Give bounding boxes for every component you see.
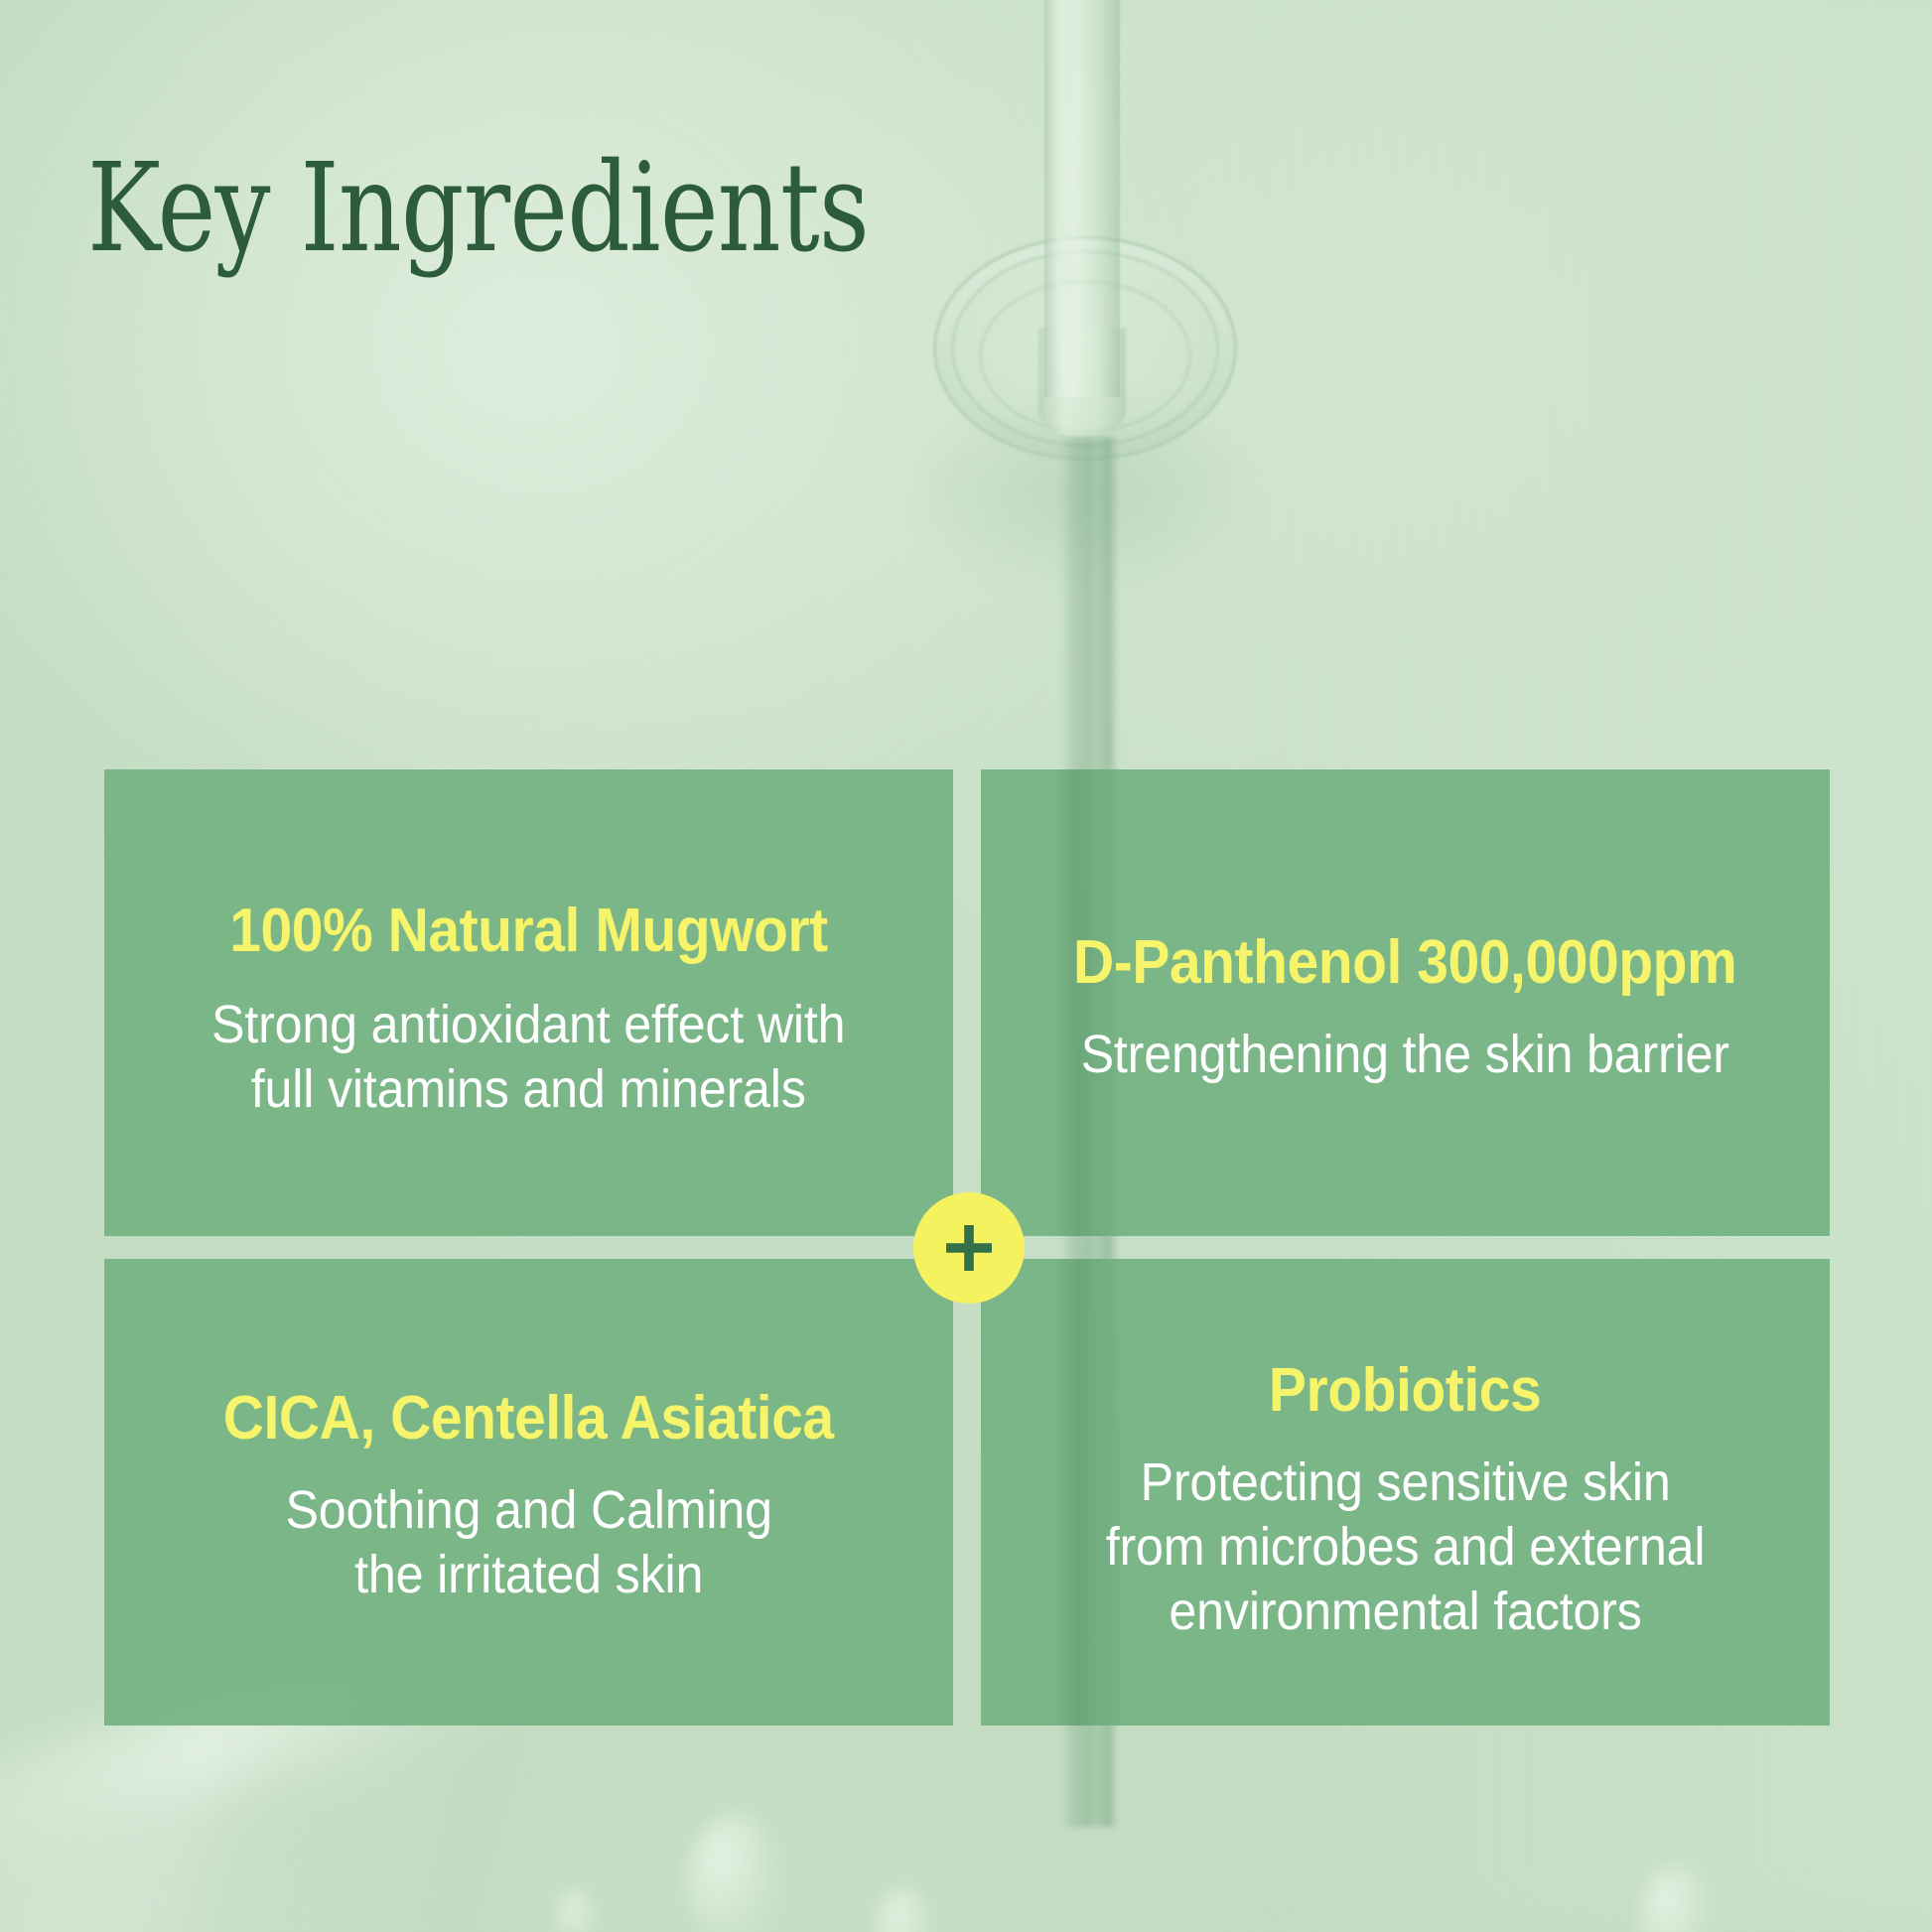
ingredient-description: Strong antioxidant effect with full vita… [211,993,845,1122]
ingredient-title: D-Panthenol 300,000ppm [1073,930,1736,997]
ingredient-card-natural-mugwort[interactable]: 100% Natural Mugwort Strong antioxidant … [104,769,953,1236]
glass-rod-neck [1038,328,1126,437]
ingredient-card-probiotics[interactable]: Probiotics Protecting sensitive skin fro… [981,1259,1830,1725]
ingredient-description-line: Strengthening the skin barrier [1081,1025,1729,1084]
ingredient-description: Strengthening the skin barrier [1081,1023,1729,1087]
ingredient-description: Protecting sensitive skin from microbes … [1106,1450,1706,1643]
ingredient-description: Soothing and Calming the irritated skin [285,1478,771,1607]
ingredient-description-line: Strong antioxidant effect with [211,995,845,1054]
ingredient-description-line: Protecting sensitive skin [1140,1452,1670,1512]
ingredient-description-line: Soothing and Calming [285,1480,771,1540]
ingredient-title: 100% Natural Mugwort [229,898,828,965]
ingredient-description-line: environmental factors [1169,1582,1641,1641]
key-ingredients-graphic: Key Ingredients 100% Natural Mugwort Str… [0,0,1932,1932]
ingredient-card-d-panthenol[interactable]: D-Panthenol 300,000ppm Strengthening the… [981,769,1830,1236]
plus-icon [941,1220,997,1276]
page-title: Key Ingredients [87,147,869,270]
ingredient-card-cica-centella-asiatica[interactable]: CICA, Centella Asiatica Soothing and Cal… [104,1259,953,1725]
ingredient-description-line: full vitamins and minerals [251,1059,806,1119]
ingredient-title: Probiotics [1269,1358,1541,1425]
plus-badge [913,1192,1025,1304]
ingredient-description-line: the irritated skin [354,1545,703,1604]
ingredient-description-line: from microbes and external [1106,1517,1706,1577]
ingredient-title: CICA, Centella Asiatica [223,1386,834,1452]
